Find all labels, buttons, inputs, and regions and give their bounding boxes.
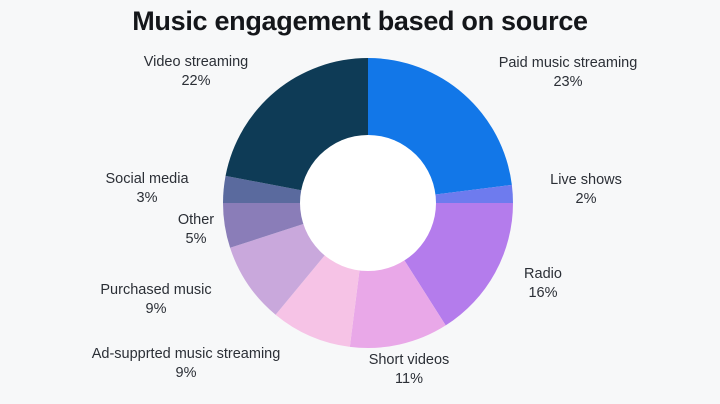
slice-label-short-videos: Short videos 11% (369, 351, 450, 390)
slice-label-value: 22% (144, 72, 249, 91)
slice-label-paid-music-streaming: Paid music streaming 23% (499, 54, 638, 93)
donut-hole (300, 135, 436, 271)
chart-title: Music engagement based on source (0, 6, 720, 37)
slice-label-social-media: Social media 3% (105, 170, 188, 209)
slice-label-value: 9% (100, 300, 211, 319)
slice-label-value: 11% (369, 370, 450, 389)
slice-label-ad-supported-music-streaming: Ad-supprted music streaming 9% (92, 345, 281, 384)
slice-label-name: Short videos (369, 351, 450, 370)
donut-chart-graphic (222, 57, 514, 349)
slice-label-other: Other 5% (178, 211, 214, 250)
slice-label-value: 9% (92, 364, 281, 383)
slice-label-purchased-music: Purchased music 9% (100, 281, 211, 320)
slice-label-value: 16% (524, 284, 562, 303)
slice-label-name: Video streaming (144, 53, 249, 72)
slice-label-video-streaming: Video streaming 22% (144, 53, 249, 92)
slice-label-name: Other (178, 211, 214, 230)
slice-label-name: Social media (105, 170, 188, 189)
slice-label-live-shows: Live shows 2% (550, 171, 622, 210)
slice-label-name: Live shows (550, 171, 622, 190)
slice-label-radio: Radio 16% (524, 265, 562, 304)
slice-label-name: Purchased music (100, 281, 211, 300)
donut-chart-card: Music engagement based on source Paid mu… (0, 0, 720, 404)
slice-label-name: Ad-supprted music streaming (92, 345, 281, 364)
slice-label-value: 2% (550, 190, 622, 209)
slice-label-value: 23% (499, 73, 638, 92)
slice-label-value: 5% (178, 230, 214, 249)
slice-label-value: 3% (105, 189, 188, 208)
slice-label-name: Paid music streaming (499, 54, 638, 73)
slice-label-name: Radio (524, 265, 562, 284)
donut-svg (222, 57, 514, 349)
